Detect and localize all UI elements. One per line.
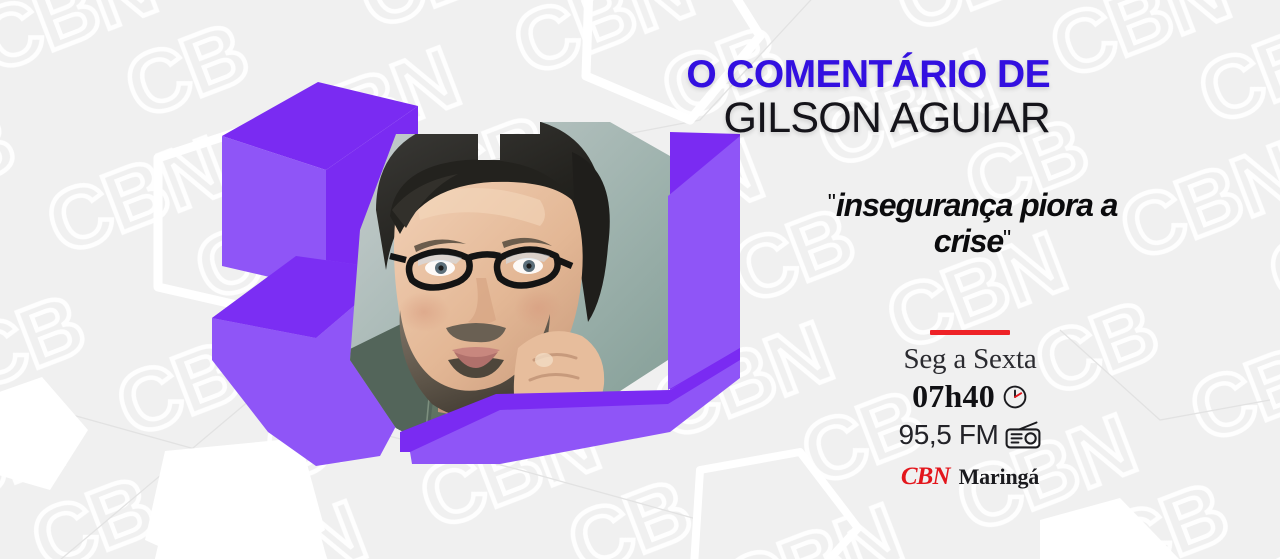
quote-line-2: crise (934, 223, 1003, 259)
station-logo: CBN Maringá (855, 463, 1085, 491)
broadcast-time: 07h40 (912, 378, 995, 415)
quote-close-mark: " (1003, 225, 1011, 251)
station-brand: CBN (901, 463, 950, 491)
headline-block: O COMENTÁRIO DE GILSON AGUIAR (540, 56, 1050, 141)
page-title-primary: O COMENTÁRIO DE (540, 56, 1050, 94)
clock-icon (1002, 384, 1028, 410)
red-divider (930, 330, 1010, 335)
schedule-block: Seg a Sexta 07h40 95,5 FM (855, 330, 1085, 491)
station-city: Maringá (959, 464, 1039, 490)
broadcast-days: Seg a Sexta (855, 343, 1085, 375)
frequency-row: 95,5 FM (855, 419, 1085, 451)
quote-line-1: insegurança piora a (836, 187, 1117, 223)
radio-frequency: 95,5 FM (899, 419, 999, 451)
quote-open-mark: " (828, 189, 836, 215)
cbn-program-banner: CBN (0, 0, 1280, 559)
quote-text: "insegurança piora a crise" (700, 188, 1245, 260)
broadcast-time-row: 07h40 (855, 378, 1085, 415)
page-title-secondary: GILSON AGUIAR (540, 96, 1050, 141)
radio-icon (1005, 421, 1041, 449)
